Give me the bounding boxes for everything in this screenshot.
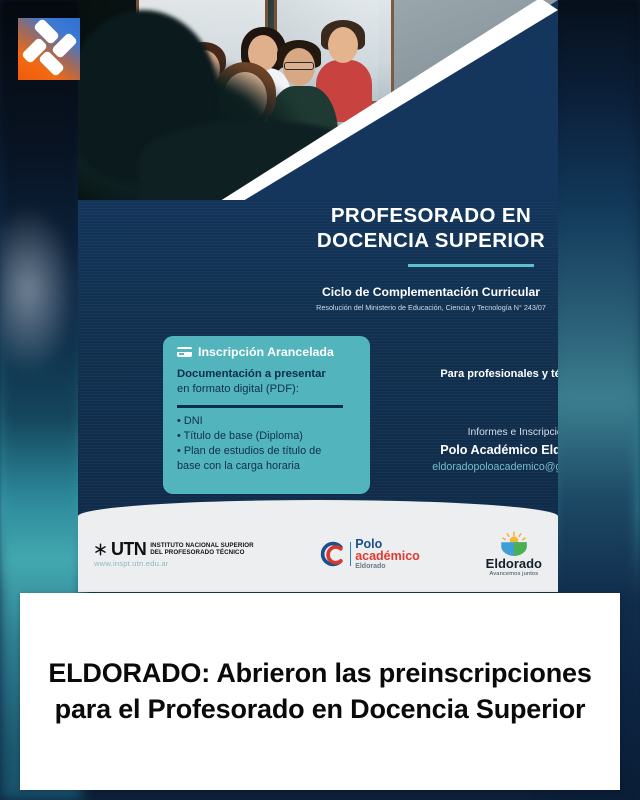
polo-line2: académico <box>355 550 420 563</box>
headline-card: ELDORADO: Abrieron las preinscripciones … <box>20 593 620 790</box>
utn-subtitle: INSTITUTO NACIONAL SUPERIOR DEL PROFESOR… <box>150 542 254 557</box>
info-box-rule <box>177 405 343 408</box>
list-item: • Plan de estudios de título de <box>177 444 361 459</box>
inscription-info-box: Inscripción Arancelada Documentación a p… <box>163 336 370 494</box>
poster-audience: Para profesionales y técnicos <box>408 368 558 380</box>
utn-website-url: www.inspt.utn.edu.ar <box>94 559 254 568</box>
pinwheel-app-icon[interactable] <box>18 18 80 80</box>
poster-footer-logos: UTN INSTITUTO NACIONAL SUPERIOR DEL PROF… <box>78 516 558 592</box>
info-box-line1: Documentación a presentar <box>177 368 326 380</box>
list-item: base con la carga horaria <box>177 459 361 474</box>
polo-line3: Eldorado <box>355 563 420 570</box>
utn-subtitle-line2: DEL PROFESORADO TÉCNICO <box>150 549 254 556</box>
poster-contact-email: eldoradopoloacademico@gmail.com <box>398 461 558 473</box>
eldorado-sun-shield-icon <box>497 531 531 557</box>
eldorado-name: Eldorado <box>486 557 542 571</box>
info-box-header: Inscripción Arancelada <box>177 345 334 359</box>
poster-title: PROFESORADO EN DOCENCIA SUPERIOR <box>306 203 556 253</box>
utn-subtitle-line1: INSTITUTO NACIONAL SUPERIOR <box>150 542 254 549</box>
utn-wordmark: UTN <box>111 540 146 558</box>
poster-subtitle: Ciclo de Complementación Curricular <box>306 285 556 299</box>
poster-contact-org: Polo Académico Eldorado <box>408 443 558 457</box>
list-item: • DNI <box>177 414 361 429</box>
poster-title-line1: PROFESORADO EN <box>306 203 556 228</box>
poster-title-rule <box>408 264 534 267</box>
info-box-requirements-list: • DNI • Título de base (Diploma) • Plan … <box>177 414 361 474</box>
payment-card-icon <box>177 347 192 357</box>
info-box-heading: Inscripción Arancelada <box>198 345 334 359</box>
poster-image: PROFESORADO EN DOCENCIA SUPERIOR Ciclo d… <box>78 0 558 592</box>
eldorado-logo: Eldorado Avancemos juntos <box>486 531 542 577</box>
polo-wordmark: Polo académico Eldorado <box>355 538 420 571</box>
utn-asterisk-icon <box>94 543 107 556</box>
poster-contact-label: Informes e Inscripción <box>408 427 558 438</box>
utn-logo-row: UTN INSTITUTO NACIONAL SUPERIOR DEL PROF… <box>94 540 254 558</box>
info-box-line2: en formato digital (PDF): <box>177 383 299 395</box>
poster-title-line2: DOCENCIA SUPERIOR <box>306 228 556 253</box>
list-item: • Título de base (Diploma) <box>177 429 361 444</box>
headline-text: ELDORADO: Abrieron las preinscripciones … <box>40 656 600 726</box>
eldorado-tagline: Avancemos juntos <box>489 571 538 577</box>
polo-divider <box>350 542 352 566</box>
utn-logo: UTN INSTITUTO NACIONAL SUPERIOR DEL PROF… <box>94 540 254 568</box>
polo-academico-logo: Polo académico Eldorado <box>320 538 420 571</box>
screenshot-root: PROFESORADO EN DOCENCIA SUPERIOR Ciclo d… <box>0 0 640 800</box>
poster-resolution: Resolución del Ministerio de Educación, … <box>300 303 558 312</box>
polo-swirl-icon <box>320 541 346 567</box>
